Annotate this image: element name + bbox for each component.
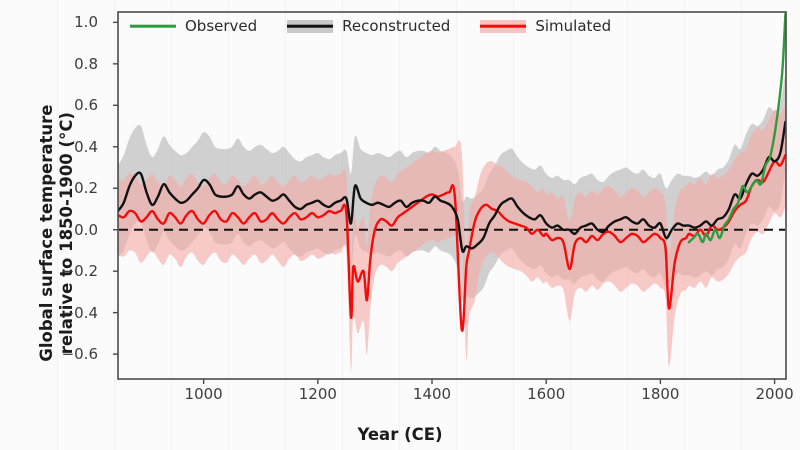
legend-line-swatch <box>130 25 176 28</box>
legend-label: Reconstructed <box>342 17 450 35</box>
chart-legend: ObservedReconstructedSimulated <box>130 17 611 35</box>
legend-line-swatch <box>480 25 526 28</box>
legend-swatch <box>130 19 176 34</box>
legend-line-swatch <box>287 25 333 28</box>
legend-label: Observed <box>185 17 257 35</box>
legend-item-observed[interactable]: Observed <box>130 17 257 35</box>
legend-swatch <box>287 19 333 34</box>
legend-item-simulated[interactable]: Simulated <box>480 17 611 35</box>
legend-label: Simulated <box>535 17 611 35</box>
climate-temperature-chart: Global surface temperature relative to 1… <box>0 0 800 450</box>
legend-item-reconstructed[interactable]: Reconstructed <box>287 17 450 35</box>
plot-area <box>0 0 800 450</box>
legend-swatch <box>480 19 526 34</box>
